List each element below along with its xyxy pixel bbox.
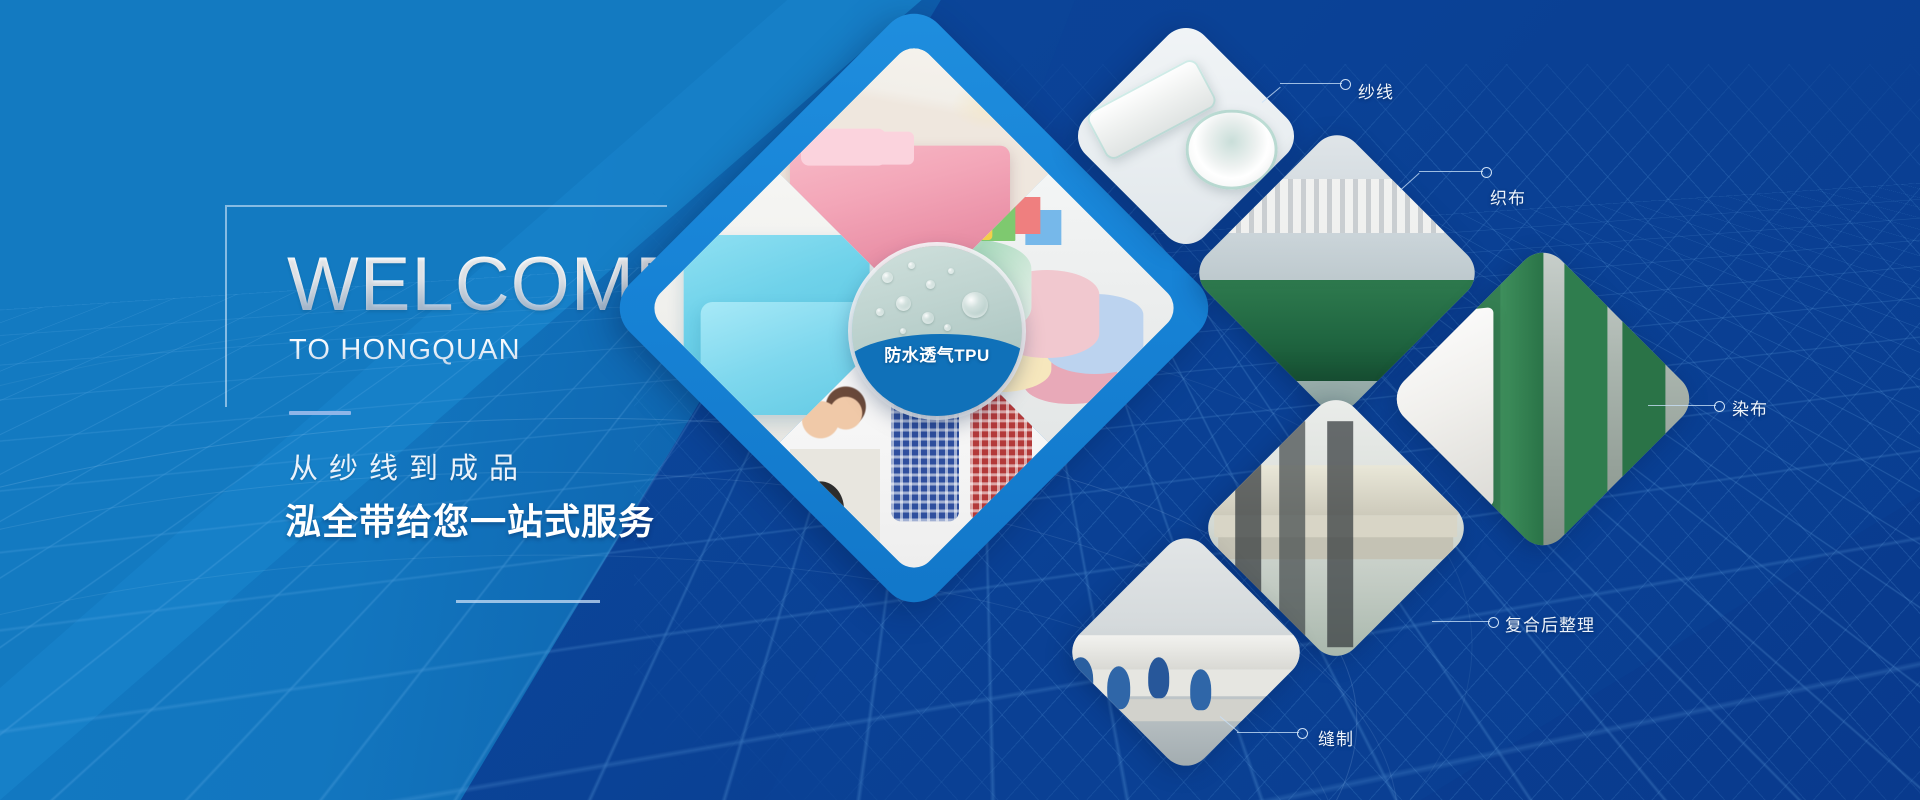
accent-rule <box>289 411 351 415</box>
process-label-lamination: 复合后整理 <box>1505 611 1595 636</box>
process-label-yarn: 纱线 <box>1358 78 1394 103</box>
tagline: 从纱线到成品 <box>289 445 529 487</box>
tpu-feature-badge: 防水透气TPU <box>852 246 1022 416</box>
page-subtitle: TO HONGQUAN <box>289 335 521 365</box>
hero-banner: WELCOME TO HONGQUAN 从纱线到成品 泓全带给您一站式服务 <box>0 0 1920 800</box>
slogan: 泓全带给您一站式服务 <box>285 493 655 545</box>
process-label-dyeing: 染布 <box>1732 395 1768 420</box>
bottom-accent-rule <box>456 600 600 603</box>
process-label-sewing: 缝制 <box>1318 725 1354 750</box>
tpu-badge-label: 防水透气TPU <box>852 341 1022 366</box>
process-label-weaving: 织布 <box>1490 184 1526 209</box>
